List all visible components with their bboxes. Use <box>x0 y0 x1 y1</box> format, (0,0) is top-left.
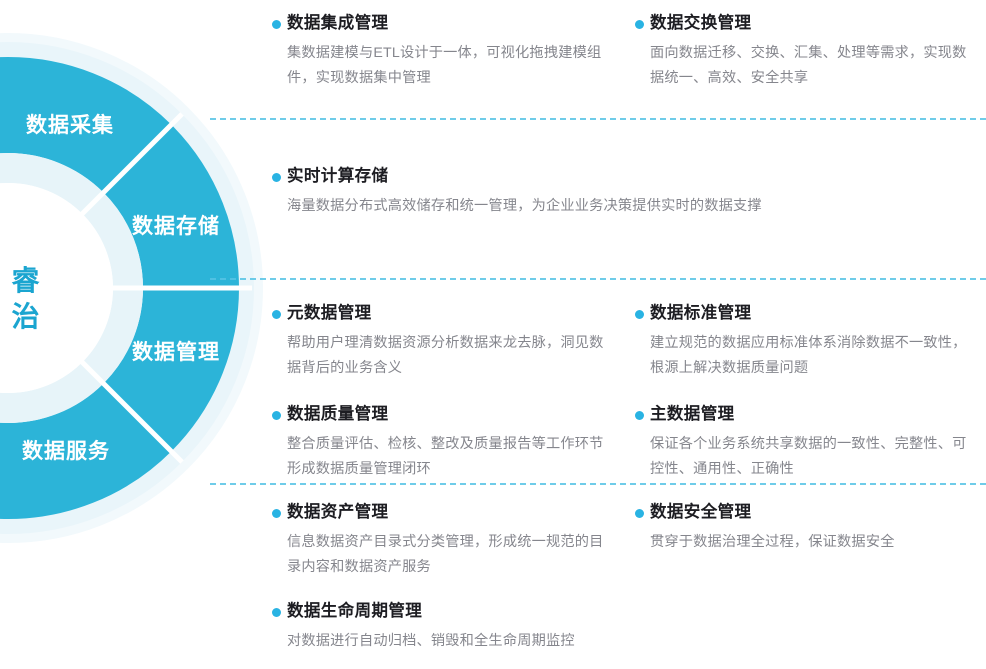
bullet-icon <box>635 509 644 518</box>
section-divider-3 <box>210 483 986 485</box>
brand-char-1: 睿 <box>11 265 40 296</box>
column-left: 数据集成管理 集数据建模与ETL设计于一体，可视化拖拽建模组件，实现数据集中管理 <box>260 12 623 103</box>
wedge-label-service: 数据服务 <box>22 439 110 463</box>
column-left: 数据资产管理 信息数据资产目录式分类管理，形成统一规范的目录内容和数据资产服务 <box>260 501 623 592</box>
data-governance-wheel: 数据采集 数据存储 数据管理 数据服务 睿 治 <box>0 0 280 669</box>
item-description: 对数据进行自动归档、销毁和全生命周期监控 <box>287 629 722 654</box>
item-metadata-management[interactable]: 元数据管理 帮助用户理清数据资源分析数据来龙去脉，洞见数据背后的业务含义 <box>260 302 605 381</box>
column-full: 实时计算存储 海量数据分布式高效储存和统一管理，为企业业务决策提供实时的数据支撑 <box>260 165 986 231</box>
item-title: 元数据管理 <box>287 302 605 324</box>
item-title: 数据集成管理 <box>287 12 605 34</box>
item-title: 数据资产管理 <box>287 501 605 523</box>
group-management: 元数据管理 帮助用户理清数据资源分析数据来龙去脉，洞见数据背后的业务含义 数据标… <box>260 302 986 494</box>
group-management-row-1: 元数据管理 帮助用户理清数据资源分析数据来龙去脉，洞见数据背后的业务含义 数据标… <box>260 302 986 393</box>
item-title: 数据质量管理 <box>287 403 605 425</box>
wedge-label-storage: 数据存储 <box>132 214 220 238</box>
item-title: 数据标准管理 <box>650 302 968 324</box>
bullet-icon <box>635 411 644 420</box>
item-data-lifecycle-management[interactable]: 数据生命周期管理 对数据进行自动归档、销毁和全生命周期监控 <box>260 600 722 654</box>
item-description: 贯穿于数据治理全过程，保证数据安全 <box>650 530 968 555</box>
item-realtime-compute-storage[interactable]: 实时计算存储 海量数据分布式高效储存和统一管理，为企业业务决策提供实时的数据支撑 <box>260 165 968 219</box>
item-title: 数据交换管理 <box>650 12 968 34</box>
bullet-icon <box>635 310 644 319</box>
wedge-label-collection: 数据采集 <box>26 113 114 137</box>
column-left: 数据生命周期管理 对数据进行自动归档、销毁和全生命周期监控 <box>260 600 740 666</box>
section-divider-2 <box>210 278 986 280</box>
item-description: 保证各个业务系统共享数据的一致性、完整性、可控性、通用性、正确性 <box>650 432 968 482</box>
item-description: 帮助用户理清数据资源分析数据来龙去脉，洞见数据背后的业务含义 <box>287 331 605 381</box>
group-storage-row-1: 实时计算存储 海量数据分布式高效储存和统一管理，为企业业务决策提供实时的数据支撑 <box>260 165 986 231</box>
column-right: 主数据管理 保证各个业务系统共享数据的一致性、完整性、可控性、通用性、正确性 <box>623 403 986 494</box>
item-title: 主数据管理 <box>650 403 968 425</box>
brand-char-2: 治 <box>11 301 40 332</box>
item-description: 海量数据分布式高效储存和统一管理，为企业业务决策提供实时的数据支撑 <box>287 194 968 219</box>
section-divider-1 <box>210 118 986 120</box>
item-description: 信息数据资产目录式分类管理，形成统一规范的目录内容和数据资产服务 <box>287 530 605 580</box>
column-right: 数据安全管理 贯穿于数据治理全过程，保证数据安全 <box>623 501 986 567</box>
bullet-icon <box>272 608 281 617</box>
item-description: 面向数据迁移、交换、汇集、处理等需求，实现数据统一、高效、安全共享 <box>650 41 968 91</box>
item-description: 整合质量评估、检核、整改及质量报告等工作环节形成数据质量管理闭环 <box>287 432 605 482</box>
item-master-data-management[interactable]: 主数据管理 保证各个业务系统共享数据的一致性、完整性、可控性、通用性、正确性 <box>623 403 968 482</box>
wheel-svg: 数据采集 数据存储 数据管理 数据服务 睿 治 <box>0 0 280 669</box>
group-service: 数据资产管理 信息数据资产目录式分类管理，形成统一规范的目录内容和数据资产服务 … <box>260 501 986 666</box>
column-right: 数据标准管理 建立规范的数据应用标准体系消除数据不一致性，根源上解决数据质量问题 <box>623 302 986 393</box>
bullet-icon <box>272 310 281 319</box>
group-collection-row-1: 数据集成管理 集数据建模与ETL设计于一体，可视化拖拽建模组件，实现数据集中管理… <box>260 12 986 103</box>
group-service-row-1: 数据资产管理 信息数据资产目录式分类管理，形成统一规范的目录内容和数据资产服务 … <box>260 501 986 592</box>
group-management-row-2: 数据质量管理 整合质量评估、检核、整改及质量报告等工作环节形成数据质量管理闭环 … <box>260 403 986 494</box>
wedge-label-management: 数据管理 <box>132 340 220 364</box>
bullet-icon <box>272 509 281 518</box>
item-data-quality-management[interactable]: 数据质量管理 整合质量评估、检核、整改及质量报告等工作环节形成数据质量管理闭环 <box>260 403 605 482</box>
column-left: 数据质量管理 整合质量评估、检核、整改及质量报告等工作环节形成数据质量管理闭环 <box>260 403 623 494</box>
item-description: 集数据建模与ETL设计于一体，可视化拖拽建模组件，实现数据集中管理 <box>287 41 605 91</box>
item-title: 数据安全管理 <box>650 501 968 523</box>
column-right: 数据交换管理 面向数据迁移、交换、汇集、处理等需求，实现数据统一、高效、安全共享 <box>623 12 986 103</box>
capability-panel: 数据集成管理 集数据建模与ETL设计于一体，可视化拖拽建模组件，实现数据集中管理… <box>260 0 986 669</box>
item-title: 数据生命周期管理 <box>287 600 722 622</box>
item-title: 实时计算存储 <box>287 165 968 187</box>
item-data-standard-management[interactable]: 数据标准管理 建立规范的数据应用标准体系消除数据不一致性，根源上解决数据质量问题 <box>623 302 968 381</box>
item-data-asset-management[interactable]: 数据资产管理 信息数据资产目录式分类管理，形成统一规范的目录内容和数据资产服务 <box>260 501 605 580</box>
bullet-icon <box>272 20 281 29</box>
item-data-exchange[interactable]: 数据交换管理 面向数据迁移、交换、汇集、处理等需求，实现数据统一、高效、安全共享 <box>623 12 968 91</box>
group-storage: 实时计算存储 海量数据分布式高效储存和统一管理，为企业业务决策提供实时的数据支撑 <box>260 165 986 231</box>
item-data-integration[interactable]: 数据集成管理 集数据建模与ETL设计于一体，可视化拖拽建模组件，实现数据集中管理 <box>260 12 605 91</box>
bullet-icon <box>272 411 281 420</box>
item-description: 建立规范的数据应用标准体系消除数据不一致性，根源上解决数据质量问题 <box>650 331 968 381</box>
item-data-security-management[interactable]: 数据安全管理 贯穿于数据治理全过程，保证数据安全 <box>623 501 968 555</box>
bullet-icon <box>635 20 644 29</box>
bullet-icon <box>272 173 281 182</box>
group-service-row-2: 数据生命周期管理 对数据进行自动归档、销毁和全生命周期监控 <box>260 600 986 666</box>
group-collection: 数据集成管理 集数据建模与ETL设计于一体，可视化拖拽建模组件，实现数据集中管理… <box>260 12 986 103</box>
column-left: 元数据管理 帮助用户理清数据资源分析数据来龙去脉，洞见数据背后的业务含义 <box>260 302 623 393</box>
